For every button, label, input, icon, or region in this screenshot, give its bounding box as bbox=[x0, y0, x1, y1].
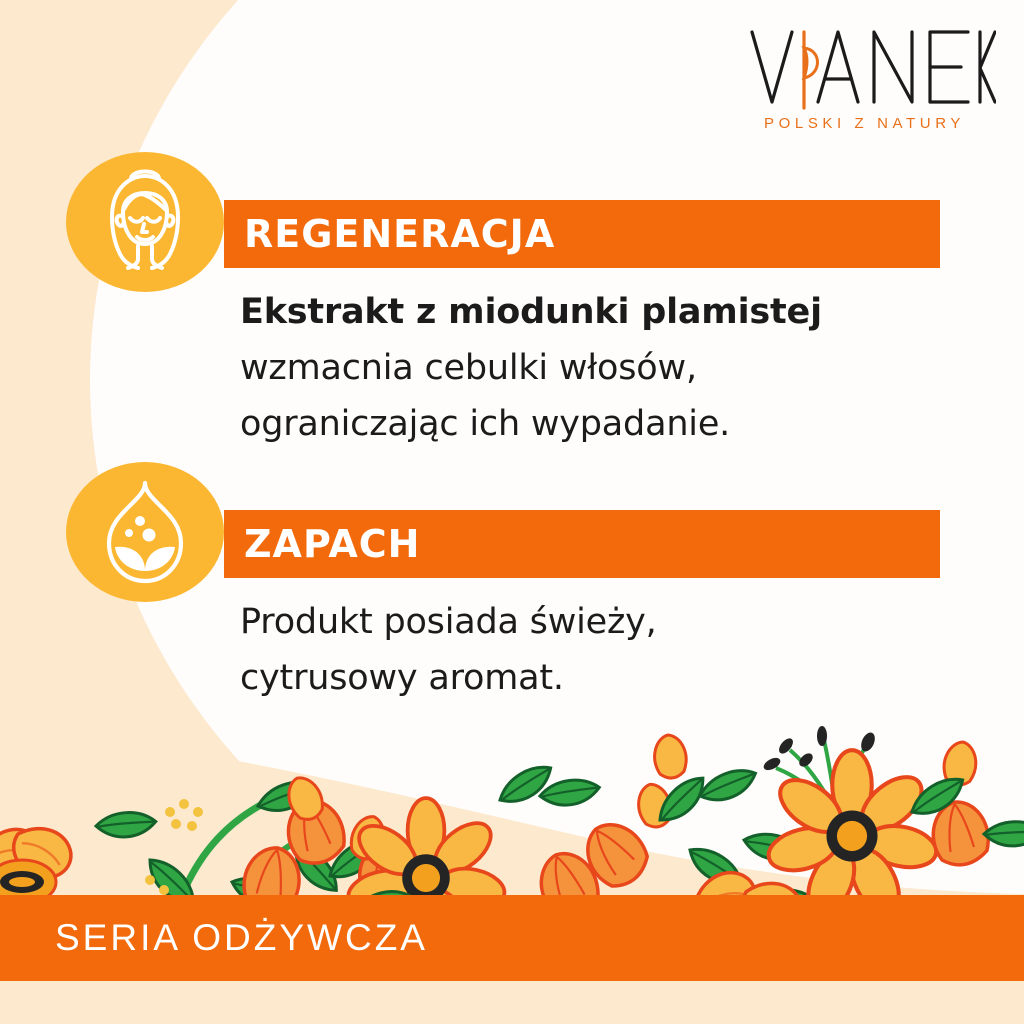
bottom-banner: SERIA ODŻYWCZA bbox=[0, 895, 1024, 981]
feature-body-line: wzmacnia cebulki włosów, bbox=[240, 340, 940, 396]
bottom-banner-label: SERIA ODŻYWCZA bbox=[55, 917, 428, 959]
feature-body-line: cytrusowy aromat. bbox=[240, 650, 940, 706]
infographic-card: POLSKI Z NATURY bbox=[0, 0, 1024, 1024]
feature-title-zapach: ZAPACH bbox=[244, 525, 420, 563]
brand-logo: POLSKI Z NATURY bbox=[746, 24, 996, 136]
feature-body-line: Produkt posiada świeży, bbox=[240, 594, 940, 650]
woman-face-icon bbox=[66, 152, 224, 292]
feature-title-bar-zapach: ZAPACH bbox=[224, 510, 940, 578]
leaf-pair bbox=[115, 547, 175, 571]
feature-body-line: Ekstrakt z miodunki plamistej bbox=[240, 284, 940, 340]
feature-body-regeneracja: Ekstrakt z miodunki plamistej wzmacnia c… bbox=[240, 284, 940, 452]
leaf-i-icon bbox=[804, 32, 818, 108]
feature-body-zapach: Produkt posiada świeży, cytrusowy aromat… bbox=[240, 594, 940, 706]
bubbles bbox=[125, 516, 156, 542]
droplet-leaves-icon bbox=[66, 462, 224, 602]
feature-body-line: ograniczając ich wypadanie. bbox=[240, 396, 940, 452]
feature-title-regeneracja: REGENERACJA bbox=[244, 215, 555, 253]
brand-tagline: POLSKI Z NATURY bbox=[764, 115, 965, 132]
bottom-cream-strip bbox=[0, 981, 1024, 1024]
feature-title-bar-regeneracja: REGENERACJA bbox=[224, 200, 940, 268]
